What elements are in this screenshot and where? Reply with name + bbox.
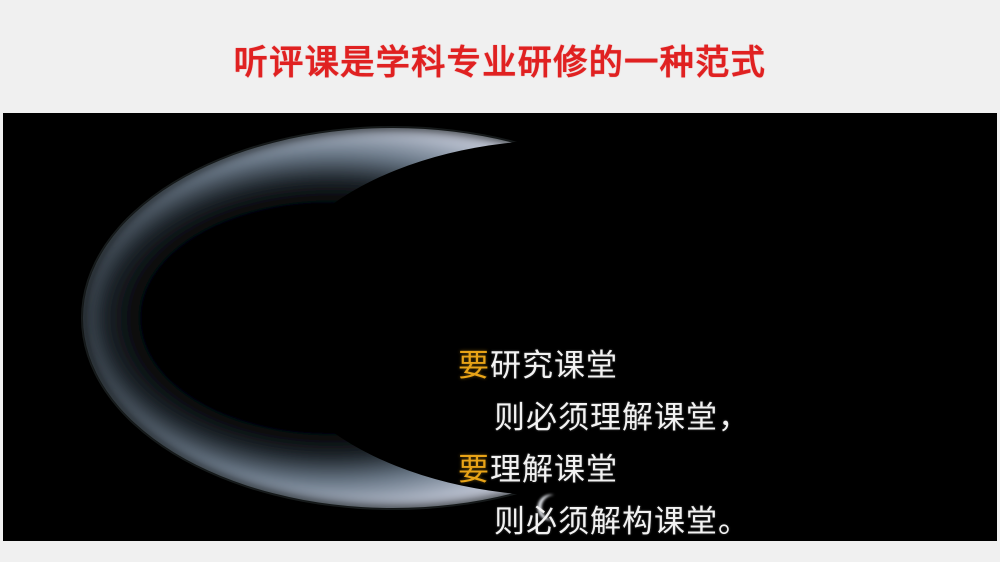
page-title: 听评课是学科专业研修的一种范式 xyxy=(0,42,1000,84)
quote-line-3: 要理解课堂 xyxy=(458,445,888,495)
quote-body-4: 则必须解构课堂。 xyxy=(494,504,750,539)
image-panel: 要研究课堂 则必须理解课堂， 要理解课堂 则必须解构课堂。 xyxy=(3,113,997,541)
quote-lead-char-3: 要 xyxy=(458,452,490,487)
quote-text-block: 要研究课堂 则必须理解课堂， 要理解课堂 则必须解构课堂。 xyxy=(458,231,888,541)
quote-body-3: 理解课堂 xyxy=(490,452,618,487)
quote-body-1: 研究课堂 xyxy=(490,348,618,383)
quote-body-2: 则必须理解课堂， xyxy=(494,400,750,435)
quote-line-1: 要研究课堂 xyxy=(458,341,888,391)
quote-line-4: 则必须解构课堂。 xyxy=(458,497,888,541)
quote-line-2: 则必须理解课堂， xyxy=(458,393,888,443)
quote-lead-char-1: 要 xyxy=(458,348,490,383)
presentation-slide: 听评课是学科专业研修的一种范式 xyxy=(0,0,1000,562)
